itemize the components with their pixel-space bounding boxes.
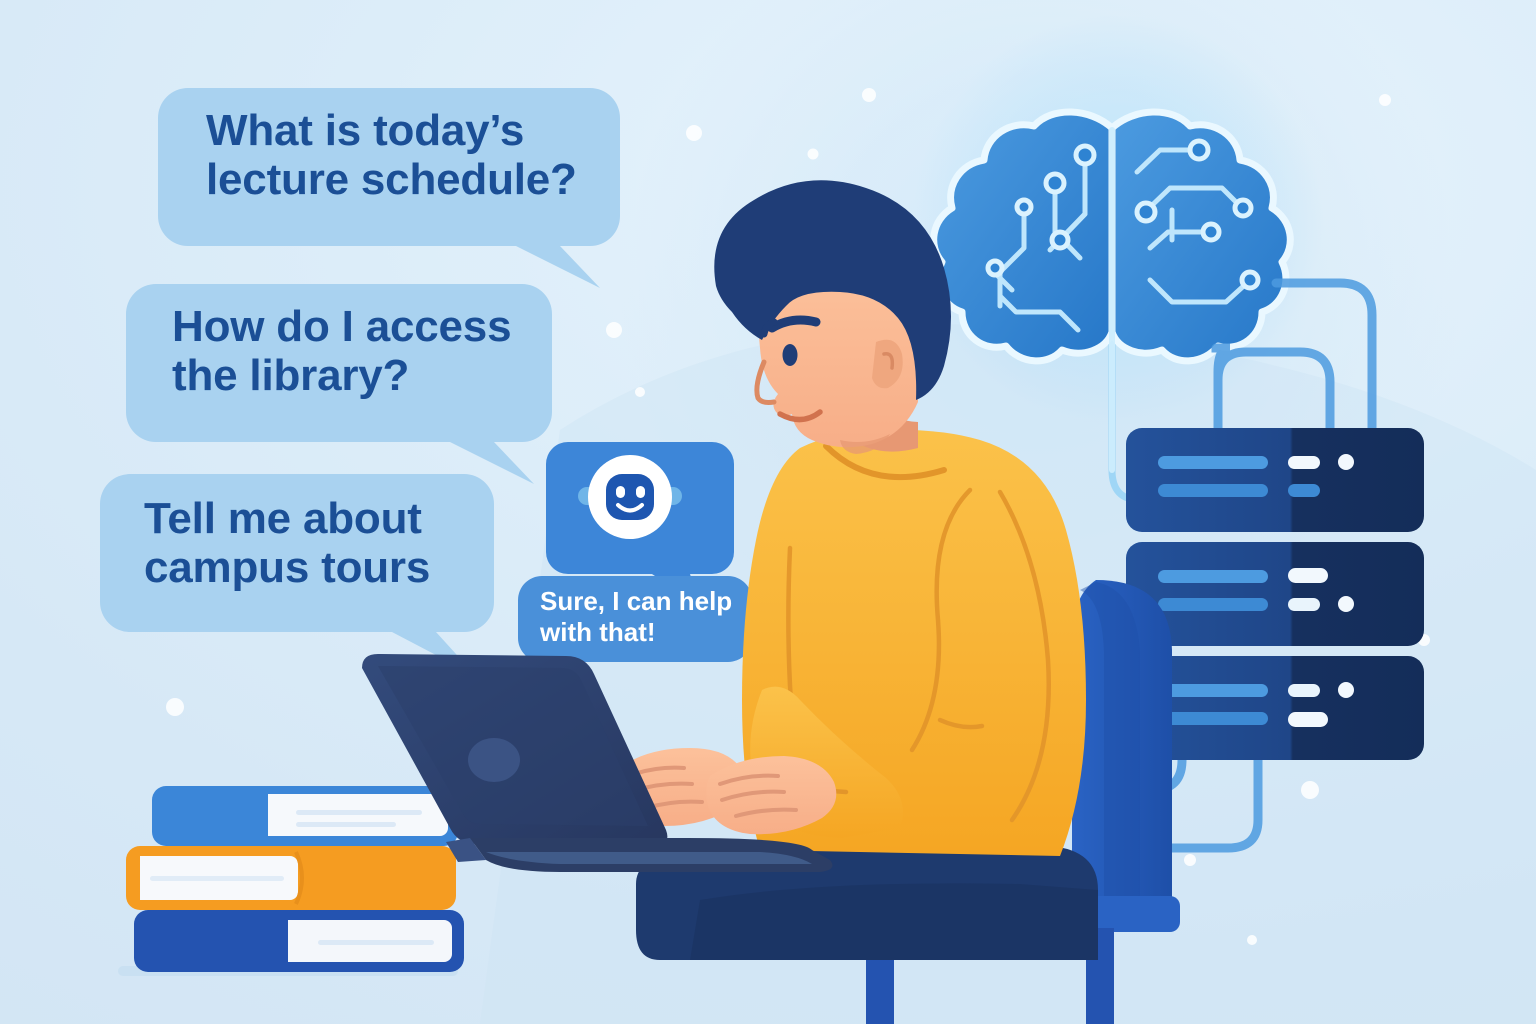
laptop-layer <box>0 0 1536 1024</box>
illustration-canvas: What is today’s lecture schedule? How do… <box>0 0 1536 1024</box>
laptop-icon <box>362 654 832 872</box>
